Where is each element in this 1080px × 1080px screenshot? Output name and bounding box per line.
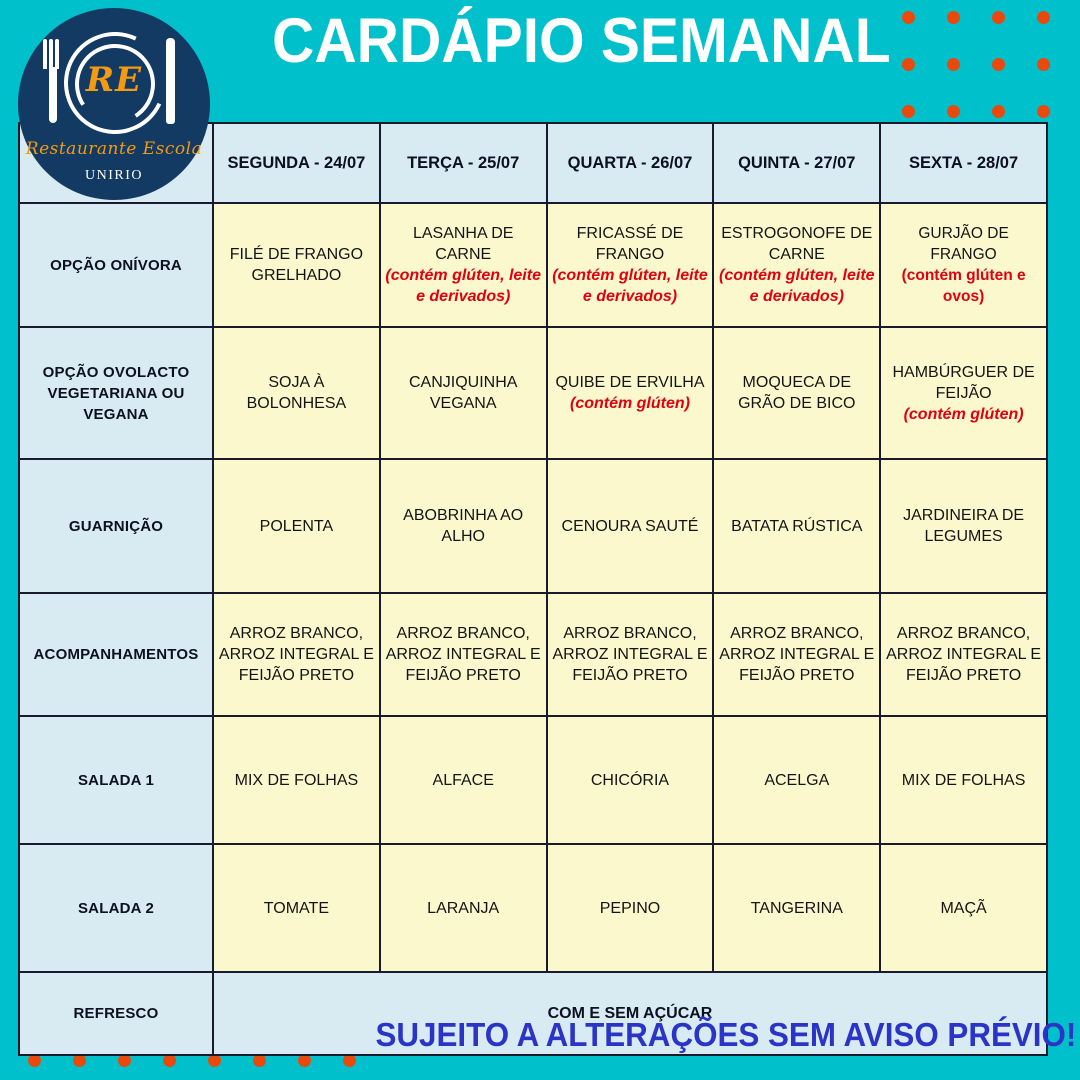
menu-cell: JARDINEIRA DE LEGUMES: [880, 459, 1047, 593]
table-row-onivora: OPÇÃO ONÍVORA FILÉ DE FRANGO GRELHADO LA…: [19, 203, 1047, 327]
row-label-acompanhamentos: ACOMPANHAMENTOS: [19, 593, 213, 716]
menu-cell: TOMATE: [213, 844, 380, 972]
table-row-guarnicao: GUARNIÇÃO POLENTA ABOBRINHA AO ALHO CENO…: [19, 459, 1047, 593]
dish-name: CHICÓRIA: [591, 772, 669, 789]
menu-cell: CENOURA SAUTÉ: [547, 459, 714, 593]
allergen-note: (contém glúten e ovos): [885, 265, 1042, 307]
menu-cell: FILÉ DE FRANGO GRELHADO: [213, 203, 380, 327]
decorative-dot: [1037, 58, 1050, 71]
decorative-dot: [947, 58, 960, 71]
menu-cell: CHICÓRIA: [547, 716, 714, 844]
menu-cell: ARROZ BRANCO, ARROZ INTEGRAL E FEIJÃO PR…: [380, 593, 547, 716]
day-header-terca: TERÇA - 25/07: [380, 123, 547, 203]
dish-name: ACELGA: [764, 772, 829, 789]
row-label-refresco: REFRESCO: [19, 972, 213, 1055]
dish-name: MIX DE FOLHAS: [902, 772, 1026, 789]
menu-cell: ARROZ BRANCO, ARROZ INTEGRAL E FEIJÃO PR…: [213, 593, 380, 716]
decorative-dot: [992, 105, 1005, 118]
dish-name: HAMBÚRGUER DE FEIJÃO: [892, 364, 1034, 402]
dish-name: ESTROGONOFE DE CARNE: [721, 225, 872, 263]
weekly-menu-table: SEGUNDA - 24/07 TERÇA - 25/07 QUARTA - 2…: [18, 122, 1048, 1056]
decorative-dot: [947, 105, 960, 118]
dish-name: CENOURA SAUTÉ: [562, 518, 699, 535]
menu-cell: PEPINO: [547, 844, 714, 972]
dish-name: ALFACE: [433, 772, 494, 789]
row-label-salada-1: SALADA 1: [19, 716, 213, 844]
dish-name: SOJA À BOLONHESA: [247, 374, 347, 412]
dish-name: ABOBRINHA AO ALHO: [403, 507, 523, 545]
disclaimer-note: SUJEITO A ALTERAÇÕES SEM AVISO PRÉVIO!: [376, 1016, 1051, 1054]
dish-name: TOMATE: [264, 900, 329, 917]
dish-name: MAÇÃ: [940, 900, 986, 917]
dish-name: ARROZ BRANCO, ARROZ INTEGRAL E FEIJÃO PR…: [386, 625, 541, 684]
dish-name: POLENTA: [260, 518, 334, 535]
decorative-dot: [992, 58, 1005, 71]
menu-cell: QUIBE DE ERVILHA(contém glúten): [547, 327, 714, 459]
decorative-dot: [947, 11, 960, 24]
menu-cell: MIX DE FOLHAS: [213, 716, 380, 844]
decorative-dot: [1037, 105, 1050, 118]
allergen-note: (contém glúten, leite e derivados): [718, 265, 875, 307]
menu-cell: ABOBRINHA AO ALHO: [380, 459, 547, 593]
logo-subtitle: UNIRIO: [18, 168, 210, 184]
dish-name: CANJIQUINHA VEGANA: [409, 374, 517, 412]
table-row-acompanhamentos: ACOMPANHAMENTOS ARROZ BRANCO, ARROZ INTE…: [19, 593, 1047, 716]
dish-name: BATATA RÚSTICA: [731, 518, 862, 535]
menu-cell: ARROZ BRANCO, ARROZ INTEGRAL E FEIJÃO PR…: [880, 593, 1047, 716]
day-header-segunda: SEGUNDA - 24/07: [213, 123, 380, 203]
menu-cell: HAMBÚRGUER DE FEIJÃO(contém glúten): [880, 327, 1047, 459]
dish-name: MOQUECA DE GRÃO DE BICO: [738, 374, 855, 412]
day-header-quarta: QUARTA - 26/07: [547, 123, 714, 203]
allergen-note: (contém glúten, leite e derivados): [385, 265, 542, 307]
menu-cell: LASANHA DE CARNE(contém glúten, leite e …: [380, 203, 547, 327]
menu-cell: POLENTA: [213, 459, 380, 593]
menu-cell: ARROZ BRANCO, ARROZ INTEGRAL E FEIJÃO PR…: [713, 593, 880, 716]
day-header-sexta: SEXTA - 28/07: [880, 123, 1047, 203]
table-row-salada-2: SALADA 2 TOMATE LARANJA PEPINO TANGERINA…: [19, 844, 1047, 972]
menu-cell: LARANJA: [380, 844, 547, 972]
menu-cell: MIX DE FOLHAS: [880, 716, 1047, 844]
decorative-dot: [902, 11, 915, 24]
dish-name: ARROZ BRANCO, ARROZ INTEGRAL E FEIJÃO PR…: [553, 625, 708, 684]
dish-name: JARDINEIRA DE LEGUMES: [903, 507, 1024, 545]
menu-cell: MAÇÃ: [880, 844, 1047, 972]
menu-cell: ESTROGONOFE DE CARNE(contém glúten, leit…: [713, 203, 880, 327]
allergen-note: (contém glúten): [552, 393, 709, 414]
decorative-dot: [902, 105, 915, 118]
dish-name: FILÉ DE FRANGO GRELHADO: [230, 246, 363, 284]
row-label-vegetariana: OPÇÃO OVOLACTO VEGETARIANA OU VEGANA: [19, 327, 213, 459]
logo-monogram: RE: [18, 60, 210, 100]
allergen-note: (contém glúten): [885, 404, 1042, 425]
menu-cell: TANGERINA: [713, 844, 880, 972]
row-label-salada-2: SALADA 2: [19, 844, 213, 972]
dish-name: ARROZ BRANCO, ARROZ INTEGRAL E FEIJÃO PR…: [219, 625, 374, 684]
row-label-guarnicao: GUARNIÇÃO: [19, 459, 213, 593]
dish-name: LARANJA: [427, 900, 499, 917]
decorative-dot: [992, 11, 1005, 24]
decorative-dot: [902, 58, 915, 71]
menu-cell: SOJA À BOLONHESA: [213, 327, 380, 459]
table-row-vegetariana: OPÇÃO OVOLACTO VEGETARIANA OU VEGANA SOJ…: [19, 327, 1047, 459]
dish-name: TANGERINA: [751, 900, 843, 917]
dish-name: ARROZ BRANCO, ARROZ INTEGRAL E FEIJÃO PR…: [719, 625, 874, 684]
menu-cell: MOQUECA DE GRÃO DE BICO: [713, 327, 880, 459]
restaurant-logo: RE Restaurante Escola UNIRIO: [18, 8, 210, 200]
menu-cell: ACELGA: [713, 716, 880, 844]
menu-cell: ARROZ BRANCO, ARROZ INTEGRAL E FEIJÃO PR…: [547, 593, 714, 716]
decorative-dot: [1037, 11, 1050, 24]
menu-cell: CANJIQUINHA VEGANA: [380, 327, 547, 459]
row-label-onivora: OPÇÃO ONÍVORA: [19, 203, 213, 327]
dish-name: QUIBE DE ERVILHA: [555, 374, 704, 391]
menu-cell: BATATA RÚSTICA: [713, 459, 880, 593]
dish-name: ARROZ BRANCO, ARROZ INTEGRAL E FEIJÃO PR…: [886, 625, 1041, 684]
table-row-salada-1: SALADA 1 MIX DE FOLHAS ALFACE CHICÓRIA A…: [19, 716, 1047, 844]
dish-name: LASANHA DE CARNE: [413, 225, 513, 263]
menu-cell: GURJÃO DE FRANGO(contém glúten e ovos): [880, 203, 1047, 327]
menu-cell: ALFACE: [380, 716, 547, 844]
menu-cell: FRICASSÉ DE FRANGO(contém glúten, leite …: [547, 203, 714, 327]
logo-name: Restaurante Escola: [18, 139, 210, 159]
day-header-quinta: QUINTA - 27/07: [713, 123, 880, 203]
dish-name: MIX DE FOLHAS: [235, 772, 359, 789]
dish-name: PEPINO: [600, 900, 660, 917]
dish-name: FRICASSÉ DE FRANGO: [577, 225, 684, 263]
dish-name: GURJÃO DE FRANGO: [918, 225, 1008, 263]
allergen-note: (contém glúten, leite e derivados): [552, 265, 709, 307]
